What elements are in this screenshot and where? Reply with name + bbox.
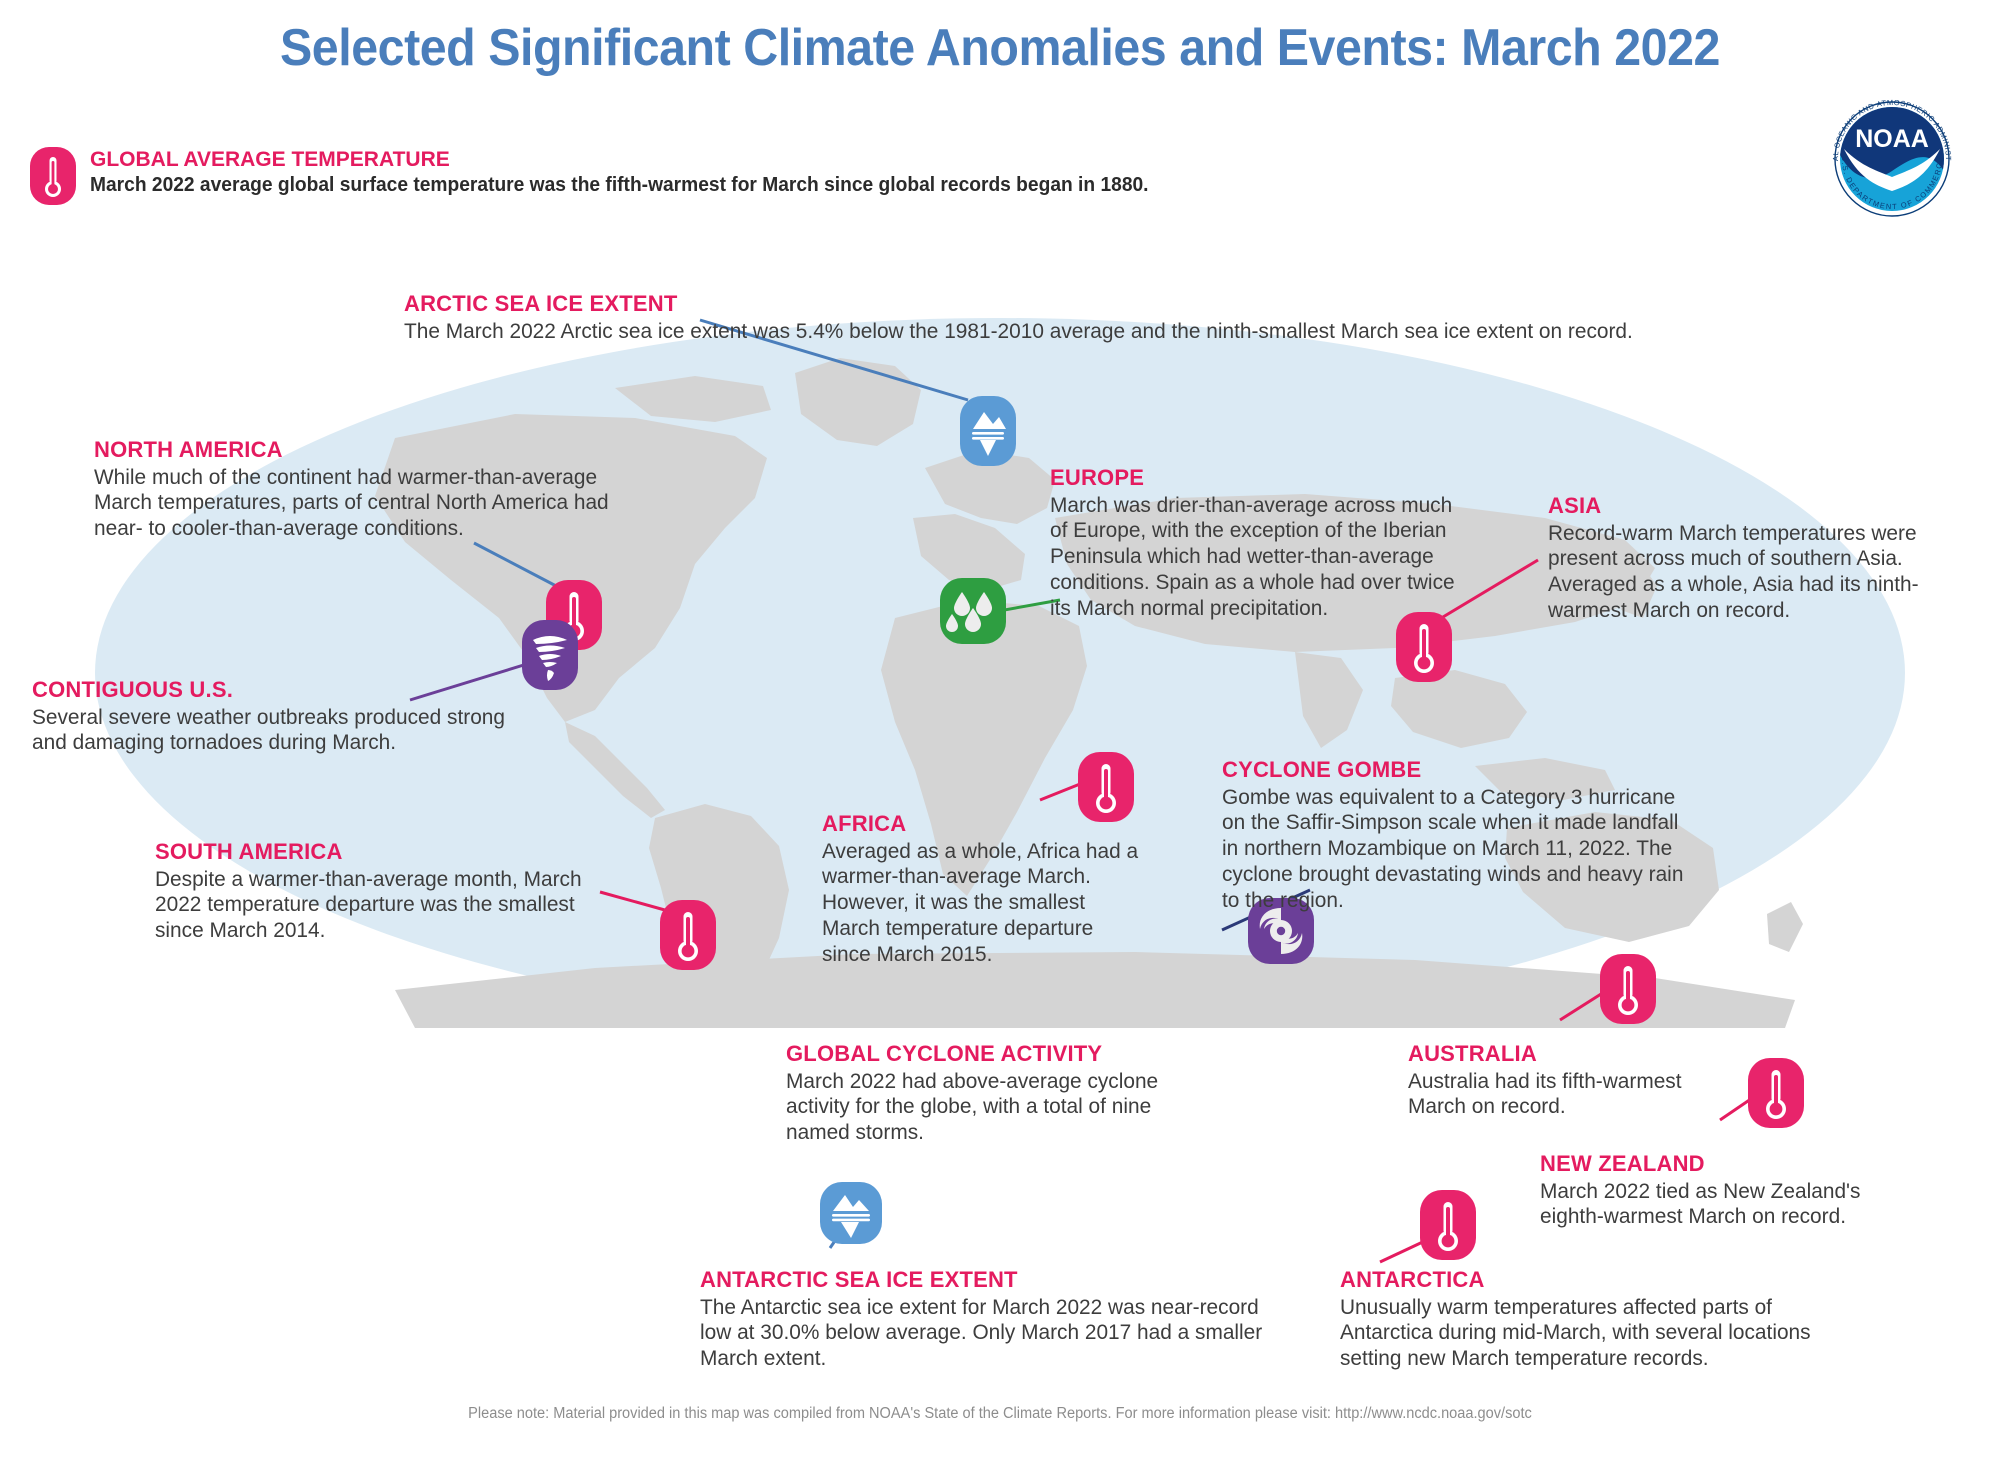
callout-africa: AFRICA Averaged as a whole, Africa had a… bbox=[822, 812, 1152, 968]
thermometer-icon bbox=[30, 147, 76, 205]
callout-heading: AFRICA bbox=[822, 812, 1152, 837]
callout-heading: ANTARCTICA bbox=[1340, 1268, 1856, 1293]
callout-body: Unusually warm temperatures affected par… bbox=[1340, 1295, 1841, 1372]
callout-body: March 2022 tied as New Zealand's eighth-… bbox=[1540, 1179, 1889, 1231]
callout-heading: NORTH AMERICA bbox=[94, 438, 634, 463]
sea-ice-icon bbox=[820, 1182, 882, 1244]
callout-new-zealand: NEW ZEALAND March 2022 tied as New Zeala… bbox=[1540, 1152, 1900, 1230]
callout-heading: EUROPE bbox=[1050, 466, 1482, 491]
thermometer-icon bbox=[1420, 1190, 1476, 1260]
noaa-logo: NOAA NATIONAL OCEANIC AND ATMOSPHERIC AD… bbox=[1818, 85, 1966, 233]
callout-heading: SOUTH AMERICA bbox=[155, 840, 603, 865]
callout-contiguous-us: CONTIGUOUS U.S. Several severe weather o… bbox=[32, 678, 532, 756]
thermometer-icon bbox=[1748, 1058, 1804, 1128]
callout-cyclone-gombe: CYCLONE GOMBE Gombe was equivalent to a … bbox=[1222, 758, 1704, 914]
callout-australia: AUSTRALIA Australia had its fifth-warmes… bbox=[1408, 1042, 1738, 1120]
callout-heading: CONTIGUOUS U.S. bbox=[32, 678, 532, 703]
callout-body: Despite a warmer-than-average month, Mar… bbox=[155, 867, 590, 944]
callout-europe: EUROPE March was drier-than-average acro… bbox=[1050, 466, 1482, 622]
thermometer-icon bbox=[1600, 954, 1656, 1024]
callout-body: The Antarctic sea ice extent for March 2… bbox=[700, 1295, 1268, 1372]
global-average-temperature-block: GLOBAL AVERAGE TEMPERATURE March 2022 av… bbox=[30, 146, 1193, 205]
callout-body: The March 2022 Arctic sea ice extent was… bbox=[404, 319, 1655, 345]
callout-body: Gombe was equivalent to a Category 3 hur… bbox=[1222, 785, 1690, 914]
page-title: Selected Significant Climate Anomalies a… bbox=[70, 18, 1930, 78]
callout-body: Averaged as a whole, Africa had a warmer… bbox=[822, 839, 1142, 968]
infographic-canvas: Selected Significant Climate Anomalies a… bbox=[0, 0, 2000, 1460]
callout-antarctica: ANTARCTICA Unusually warm temperatures a… bbox=[1340, 1268, 1856, 1372]
callout-heading: ANTARCTIC SEA ICE EXTENT bbox=[700, 1268, 1286, 1293]
sea-ice-icon bbox=[960, 396, 1016, 466]
callout-asia: ASIA Record-warm March temperatures were… bbox=[1548, 494, 1952, 624]
callout-body: Record-warm March temperatures were pres… bbox=[1548, 521, 1940, 624]
callout-heading: AUSTRALIA bbox=[1408, 1042, 1738, 1067]
callout-global-cyclone-activity: GLOBAL CYCLONE ACTIVITY March 2022 had a… bbox=[786, 1042, 1190, 1146]
callout-heading: ASIA bbox=[1548, 494, 1952, 519]
callout-heading: NEW ZEALAND bbox=[1540, 1152, 1900, 1177]
callout-body: Australia had its fifth-warmest March on… bbox=[1408, 1069, 1728, 1121]
global-average-temperature-heading: GLOBAL AVERAGE TEMPERATURE bbox=[90, 148, 1193, 171]
callout-north-america: NORTH AMERICA While much of the continen… bbox=[94, 438, 634, 542]
callout-heading: CYCLONE GOMBE bbox=[1222, 758, 1704, 783]
callout-heading: GLOBAL CYCLONE ACTIVITY bbox=[786, 1042, 1190, 1067]
callout-body: March 2022 had above-average cyclone act… bbox=[786, 1069, 1178, 1146]
global-average-temperature-body: March 2022 average global surface temper… bbox=[90, 174, 1149, 197]
callout-body: While much of the continent had warmer-t… bbox=[94, 465, 618, 542]
callout-antarctic-sea-ice-extent: ANTARCTIC SEA ICE EXTENT The Antarctic s… bbox=[700, 1268, 1286, 1372]
callout-arctic-sea-ice-extent: ARCTIC SEA ICE EXTENT The March 2022 Arc… bbox=[404, 292, 1694, 344]
callout-body: Several severe weather outbreaks produce… bbox=[32, 705, 517, 757]
callout-body: March was drier-than-average across much… bbox=[1050, 493, 1469, 622]
callout-heading: ARCTIC SEA ICE EXTENT bbox=[404, 292, 1694, 317]
thermometer-icon bbox=[1396, 612, 1452, 682]
precipitation-icon bbox=[940, 578, 1006, 644]
callout-south-america: SOUTH AMERICA Despite a warmer-than-aver… bbox=[155, 840, 603, 944]
thermometer-icon bbox=[660, 900, 716, 970]
footer-note: Please note: Material provided in this m… bbox=[60, 1405, 1940, 1423]
noaa-logo-wordmark: NOAA bbox=[1855, 125, 1929, 153]
